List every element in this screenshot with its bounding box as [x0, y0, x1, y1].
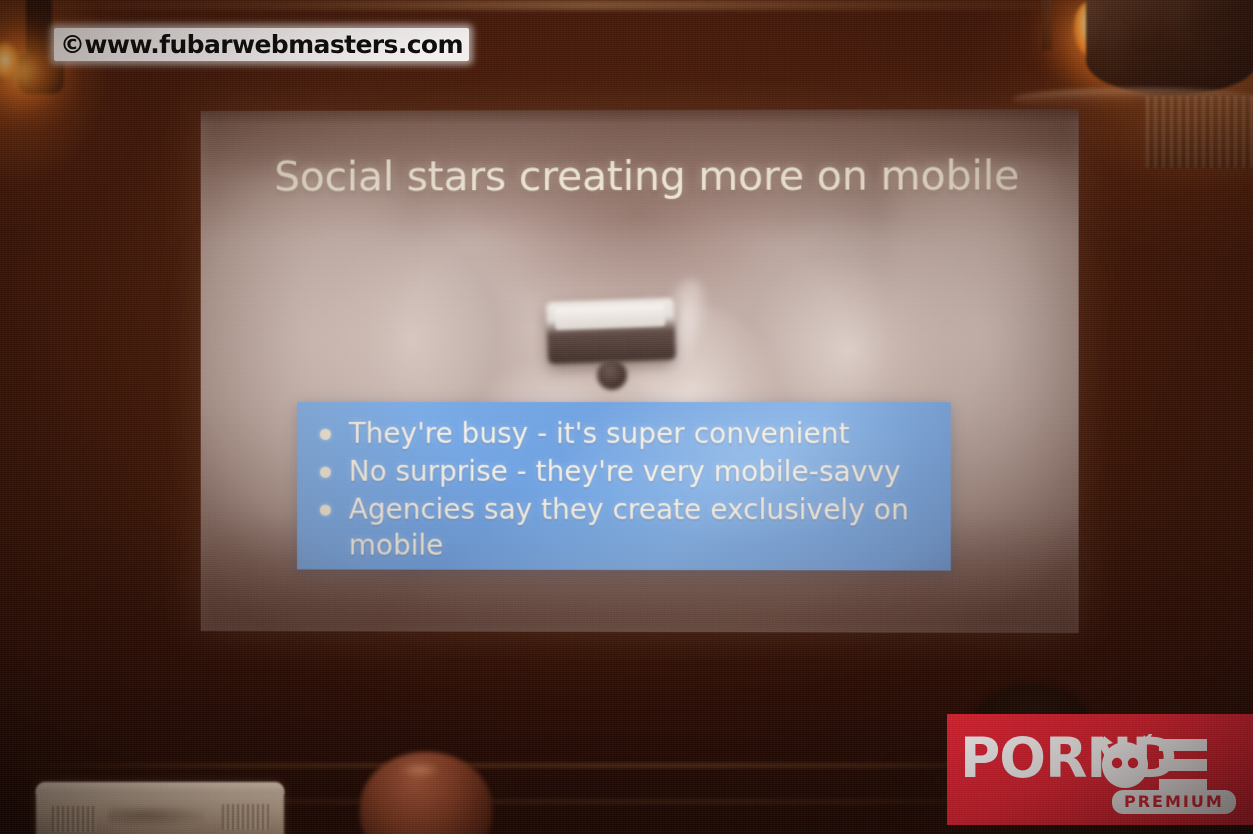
- porndoe-logo: PORND PREMIUM: [947, 714, 1253, 825]
- projection-screen: Social stars creating more on mobile The…: [201, 109, 1079, 633]
- conference-presentation-photo: Social stars creating more on mobile The…: [0, 0, 1253, 834]
- projector-vent-right: [222, 804, 270, 830]
- projector-vent-left: [52, 806, 96, 832]
- projector-top-panel: [36, 782, 284, 794]
- screen-vignette: [201, 109, 1079, 633]
- devil-face-icon: [1097, 734, 1153, 790]
- projector-label: [108, 806, 204, 826]
- pendant-shade: [1086, 0, 1253, 94]
- premium-badge: PREMIUM: [1112, 790, 1236, 814]
- audience-head-highlight: [400, 762, 440, 778]
- watermark-text: ©www.fubarwebmasters.com: [54, 28, 469, 61]
- pendant-glass-cylinder: [1146, 96, 1253, 168]
